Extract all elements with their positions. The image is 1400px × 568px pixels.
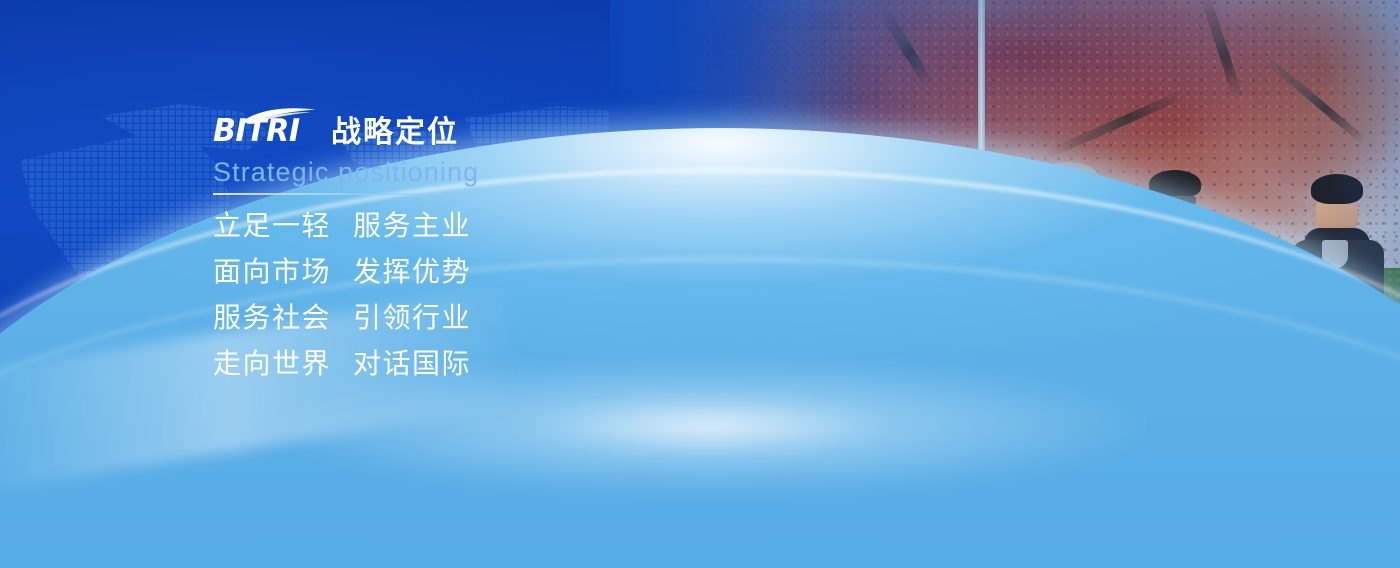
slogan-list: 立足一轻 服务主业 面向市场 发挥优势 服务社会 引领行业 走向世界 对话国际 <box>213 212 543 378</box>
slogan-left: 立足一轻 <box>213 212 353 240</box>
slogan-left: 面向市场 <box>213 258 353 286</box>
brand-lockup: BITRI 战略定位 <box>213 105 543 151</box>
strategic-positioning-banner: BITRI 战略定位 Strategic positioning 立足一轻 服务… <box>0 0 1400 568</box>
slogan-right: 发挥优势 <box>353 258 471 286</box>
banner-text-block: BITRI 战略定位 Strategic positioning 立足一轻 服务… <box>213 105 543 378</box>
bitri-logo: BITRI <box>213 107 317 151</box>
slogan-left: 服务社会 <box>213 304 353 332</box>
slogan-row: 面向市场 发挥优势 <box>213 258 543 286</box>
slogan-row: 走向世界 对话国际 <box>213 350 543 378</box>
banner-title-cn: 战略定位 <box>331 118 459 151</box>
slogan-row: 服务社会 引领行业 <box>213 304 543 332</box>
title-divider <box>213 193 525 195</box>
slogan-right: 对话国际 <box>353 350 471 378</box>
banner-subtitle-en: Strategic positioning <box>213 158 543 186</box>
slogan-row: 立足一轻 服务主业 <box>213 212 543 240</box>
slogan-left: 走向世界 <box>213 350 353 378</box>
slogan-right: 引领行业 <box>353 304 471 332</box>
bitri-wordmark: BITRI <box>213 116 300 147</box>
slogan-right: 服务主业 <box>353 212 471 240</box>
